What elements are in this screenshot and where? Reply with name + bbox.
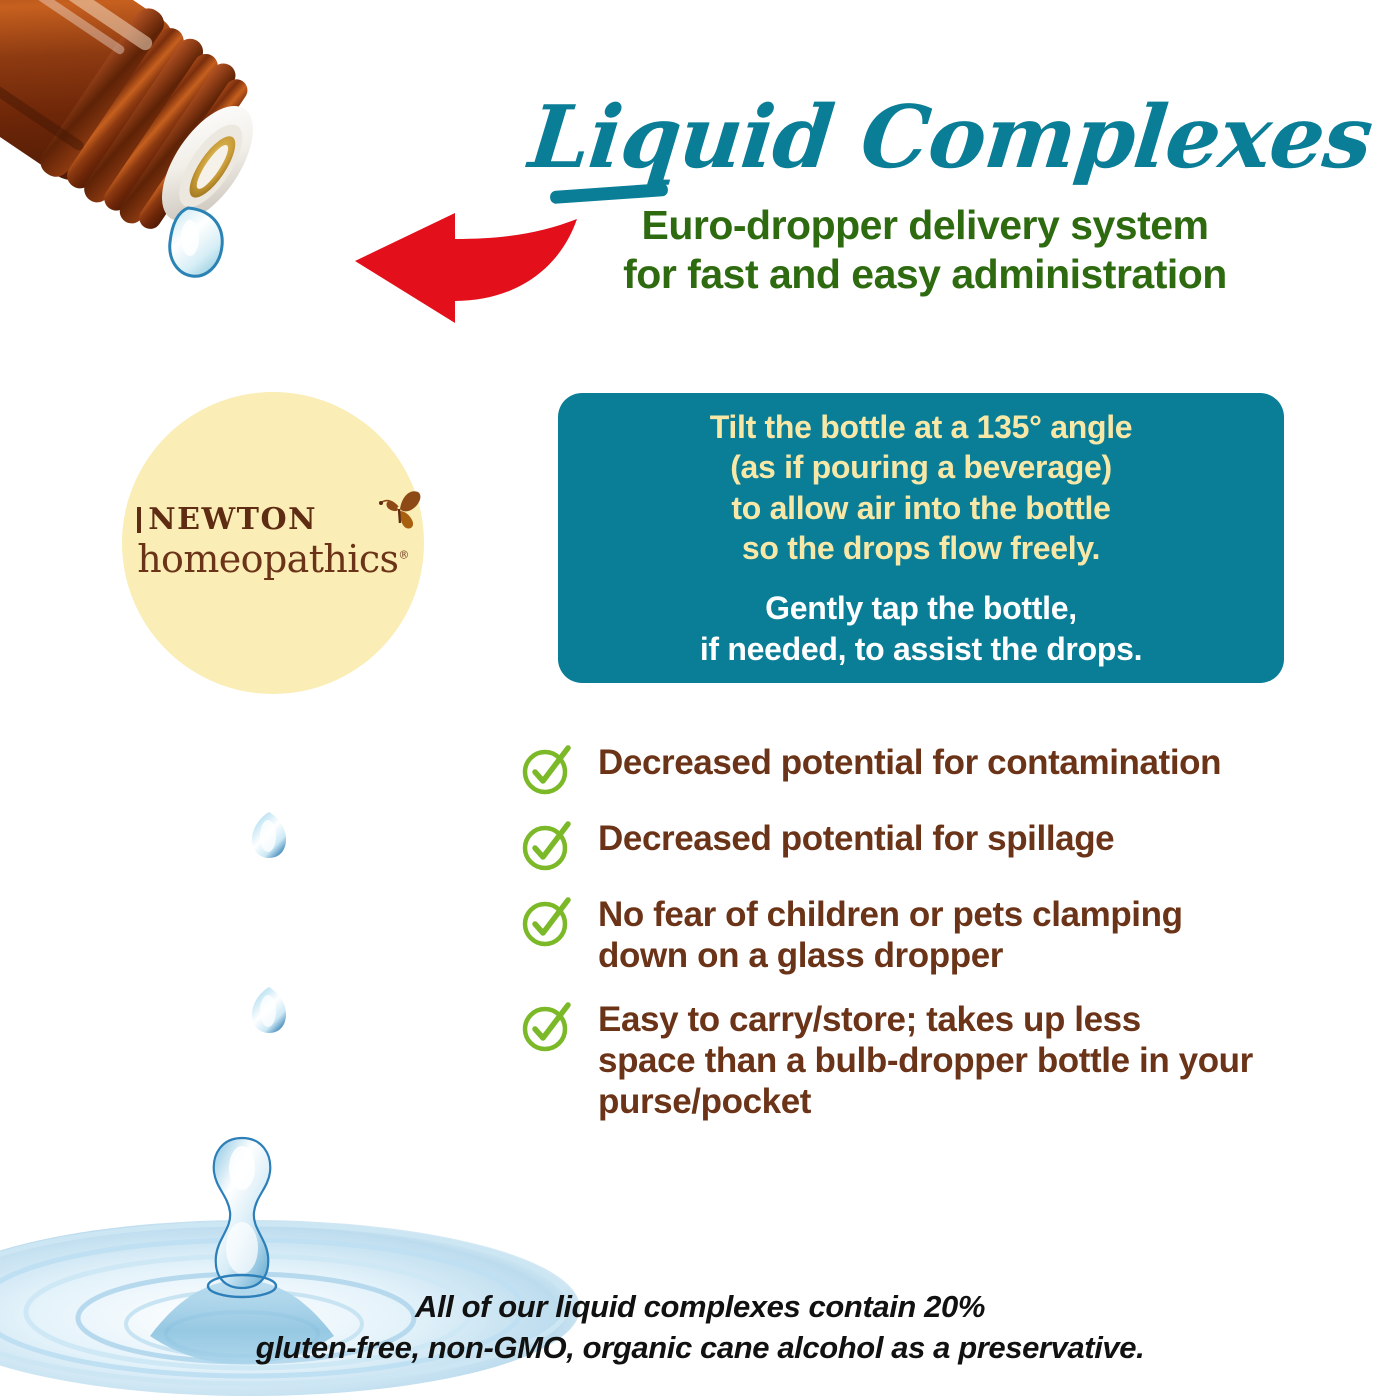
benefit-line: Easy to carry/store; takes up less: [598, 1000, 1253, 1041]
benefit-line: space than a bulb-dropper bottle in your: [598, 1041, 1253, 1082]
benefit-line: down on a glass dropper: [598, 936, 1183, 977]
infographic-page: Liquid Complexes Euro-dropper delivery s…: [0, 0, 1400, 1400]
logo-brand-name: NEWTON: [148, 505, 317, 535]
list-item: No fear of children or pets clamping dow…: [520, 894, 1350, 977]
water-droplet-icon: [248, 810, 290, 860]
logo-vertical-bar-icon: [137, 507, 141, 533]
instruction-primary-line-3: to allow air into the bottle: [710, 488, 1133, 528]
benefit-line: No fear of children or pets clamping: [598, 895, 1183, 936]
instruction-primary-line-2: (as if pouring a beverage): [710, 447, 1133, 487]
benefit-line: Decreased potential for spillage: [598, 819, 1114, 860]
footer-line-1: All of our liquid complexes contain 20%: [0, 1286, 1400, 1327]
circled-check-icon: [520, 744, 572, 796]
brand-logo-badge: NEWTON homeopathics®: [122, 392, 424, 694]
logo-newton-row: NEWTON: [137, 505, 409, 535]
subtitle-block: Euro-dropper delivery system for fast an…: [530, 201, 1320, 299]
logo-brand-subname: homeopathics®: [137, 540, 409, 578]
list-item: Decreased potential for contamination: [520, 742, 1350, 796]
footer-disclaimer: All of our liquid complexes contain 20% …: [0, 1286, 1400, 1368]
benefit-text: Decreased potential for spillage: [598, 818, 1114, 860]
butterfly-icon: [373, 489, 423, 531]
amber-dropper-bottle-image: [0, 0, 340, 330]
subtitle-line-1: Euro-dropper delivery system: [530, 201, 1320, 250]
logo-inner: NEWTON homeopathics®: [138, 505, 408, 578]
footer-line-2: gluten-free, non-GMO, organic cane alcoh…: [0, 1327, 1400, 1368]
logo-brand-subname-text: homeopathics: [137, 537, 398, 581]
page-title: Liquid Complexes: [525, 95, 1324, 181]
list-item: Decreased potential for spillage: [520, 818, 1350, 872]
instruction-primary-line-1: Tilt the bottle at a 135° angle: [710, 407, 1133, 447]
benefit-text: Easy to carry/store; takes up less space…: [598, 999, 1253, 1123]
benefit-line: purse/pocket: [598, 1082, 1253, 1123]
instruction-secondary-line-1: Gently tap the bottle,: [700, 588, 1142, 628]
instruction-secondary-line-2: if needed, to assist the drops.: [700, 629, 1142, 669]
benefits-list: Decreased potential for contamination De…: [520, 742, 1350, 1145]
logo-text-block: NEWTON homeopathics®: [137, 505, 409, 578]
benefit-text: Decreased potential for contamination: [598, 742, 1221, 784]
circled-check-icon: [520, 896, 572, 948]
registered-mark-icon: ®: [398, 548, 408, 561]
instruction-callout-box: Tilt the bottle at a 135° angle (as if p…: [558, 393, 1284, 683]
instruction-primary-block: Tilt the bottle at a 135° angle (as if p…: [710, 407, 1133, 568]
instruction-primary-line-4: so the drops flow freely.: [710, 528, 1133, 568]
benefit-text: No fear of children or pets clamping dow…: [598, 894, 1183, 977]
circled-check-icon: [520, 1001, 572, 1053]
benefit-line: Decreased potential for contamination: [598, 743, 1221, 784]
water-droplet-icon: [248, 985, 290, 1035]
instruction-secondary-block: Gently tap the bottle, if needed, to ass…: [700, 588, 1142, 669]
circled-check-icon: [520, 820, 572, 872]
subtitle-line-2: for fast and easy administration: [530, 250, 1320, 299]
list-item: Easy to carry/store; takes up less space…: [520, 999, 1350, 1123]
header-title-block: Liquid Complexes Euro-dropper delivery s…: [530, 95, 1320, 299]
